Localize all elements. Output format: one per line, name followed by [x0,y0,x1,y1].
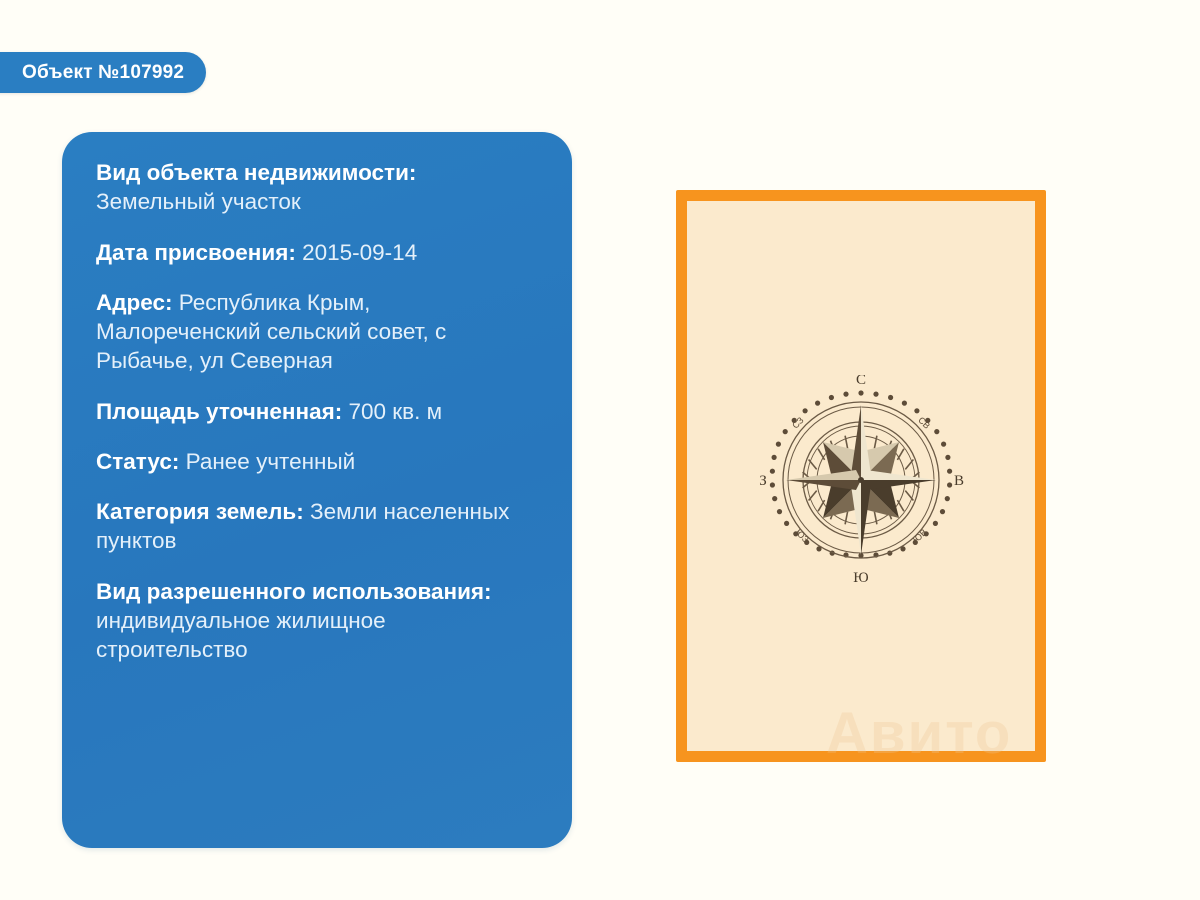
compass-label-south: Ю [853,570,868,585]
field-label: Дата присвоения: [96,240,296,265]
field-permitted-use: Вид разрешенного использования: индивиду… [96,577,538,665]
field-label: Категория земель: [96,499,304,524]
field-value: 2015-09-14 [302,240,417,265]
field-value: индивидуальное жилищное строительство [96,606,538,665]
field-label: Статус: [96,449,179,474]
compass-label-northeast: СВ [916,415,932,431]
object-number-label: Объект №107992 [22,62,184,84]
field-label: Адрес: [96,290,173,315]
field-land-category: Категория земель: Земли населенных пункт… [96,497,538,556]
field-address: Адрес: Республика Крым, Малореченский се… [96,288,538,376]
field-label: Вид объекта недвижимости: [96,158,538,187]
field-status: Статус: Ранее учтенный [96,447,538,476]
object-number-badge: Объект №107992 [0,52,206,93]
land-plot-diagram: С В Ю З СЗ СВ ЮЗ ЮВ Авито [676,190,1046,762]
field-value: 700 кв. м [349,399,443,424]
compass-label-east: В [954,473,964,489]
field-assignment-date: Дата присвоения: 2015-09-14 [96,238,538,267]
field-label: Вид разрешенного использования: [96,577,538,606]
compass-label-west: З [759,473,767,489]
field-property-type: Вид объекта недвижимости: Земельный учас… [96,158,538,217]
field-label: Площадь уточненная: [96,399,342,424]
field-value: Земельный участок [96,187,538,216]
compass-rose-icon: С В Ю З СЗ СВ ЮЗ ЮВ [756,375,966,585]
field-area: Площадь уточненная: 700 кв. м [96,397,538,426]
compass-label-north: С [856,375,866,388]
property-info-card: Вид объекта недвижимости: Земельный учас… [62,132,572,848]
field-value: Ранее учтенный [186,449,356,474]
